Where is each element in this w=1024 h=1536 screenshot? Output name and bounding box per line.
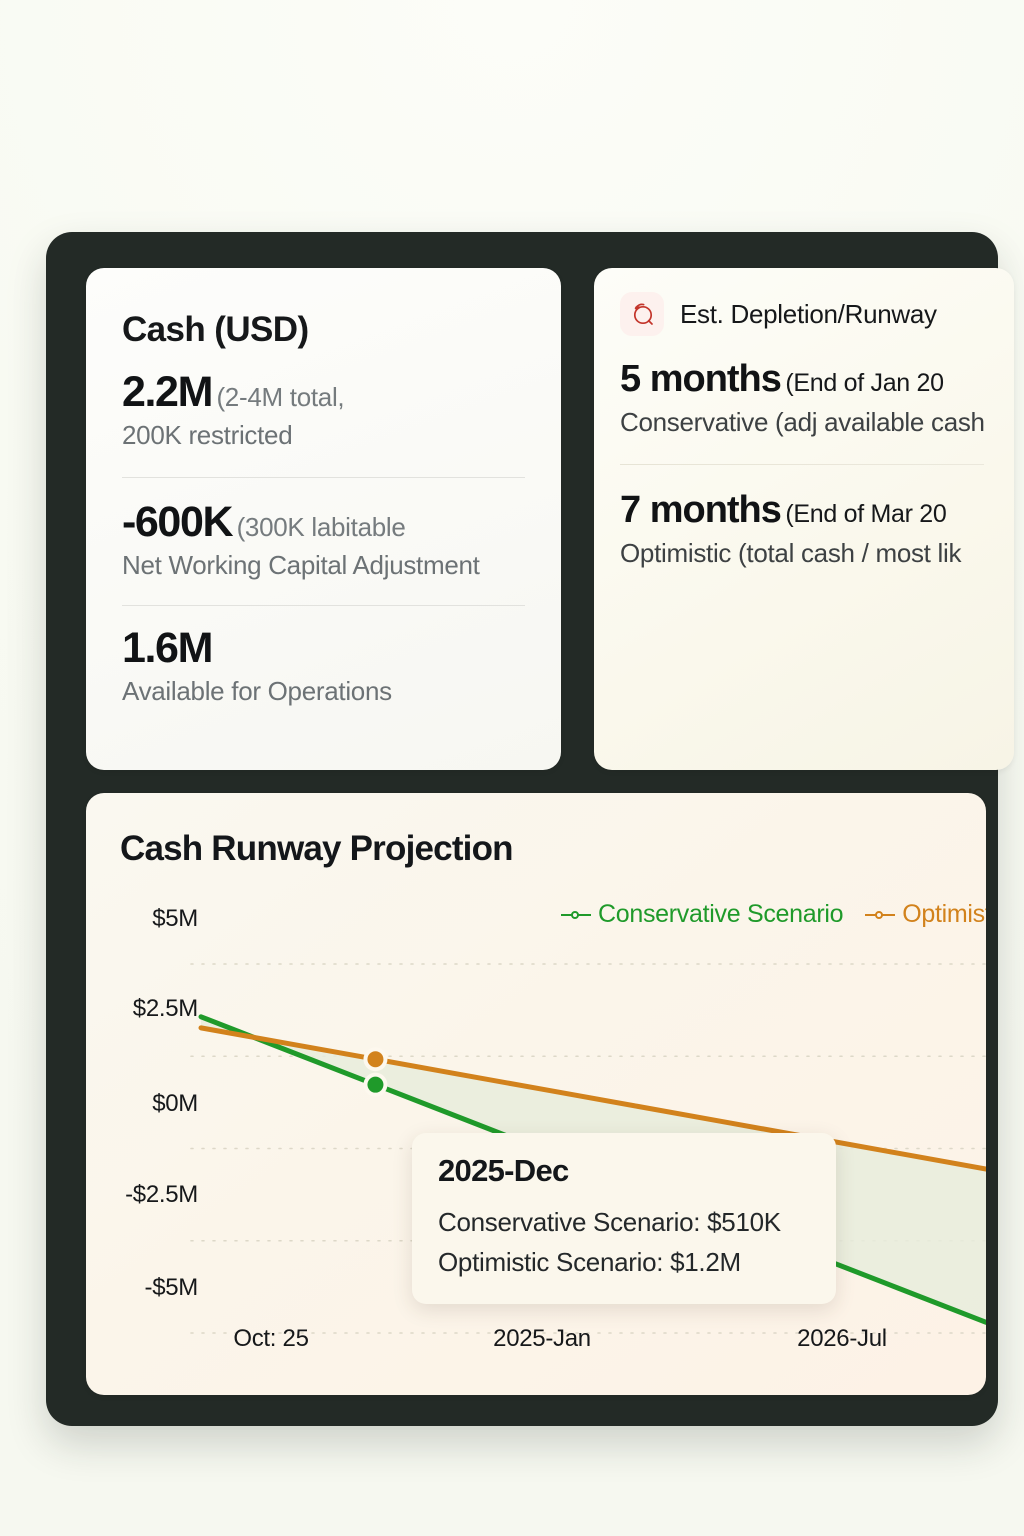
cash-metric-sub: Net Working Capital Adjustment xyxy=(122,546,525,585)
cash-metric-paren: (300K labitable xyxy=(237,512,406,542)
history-clock-icon xyxy=(620,292,664,336)
cash-metric-paren: (2-4M total, xyxy=(216,382,344,412)
cash-metric-sub: Available for Operations xyxy=(122,672,525,711)
tooltip-row-optimistic: Optimistic Scenario: $1.2M xyxy=(438,1243,810,1283)
tooltip-title: 2025-Dec xyxy=(438,1153,810,1189)
cash-metric-row-2: 1.6M Available for Operations xyxy=(122,624,525,711)
cash-metric-value: -600K xyxy=(122,498,232,546)
cash-metric-row-1: -600K (300K labitable Net Working Capita… xyxy=(122,498,525,585)
cash-usd-card: Cash (USD) 2.2M (2-4M total, 200K restri… xyxy=(86,268,561,770)
depletion-runway-card: Est. Depletion/Runway 5 months (End of J… xyxy=(594,268,1014,770)
chart-y-tick-label: $2.5M xyxy=(86,995,198,1023)
runway-card-title: Est. Depletion/Runway xyxy=(680,299,937,330)
runway-note: Conservative (adj available cash xyxy=(620,407,984,438)
chart-x-tick-label: 2025-Jan xyxy=(452,1325,632,1353)
cash-runway-projection-card: Cash Runway Projection Conservative Scen… xyxy=(86,793,986,1395)
tooltip-row-conservative: Conservative Scenario: $510K xyxy=(438,1203,810,1243)
runway-date-paren: (End of Mar 20 xyxy=(785,500,946,528)
legend-label: Conservative Scenario xyxy=(598,900,843,929)
runway-row-0: 5 months (End of Jan 20 Conservative (ad… xyxy=(620,358,984,438)
runway-card-divider xyxy=(620,464,984,465)
cash-metric-value: 1.6M xyxy=(122,624,212,672)
chart-y-tick-label: -$5M xyxy=(86,1274,198,1302)
chart-x-tick-label: 2026-Jul xyxy=(752,1325,932,1353)
chart-tooltip: 2025-Dec Conservative Scenario: $510K Op… xyxy=(412,1133,836,1304)
cash-metric-sub: 200K restricted xyxy=(122,416,525,455)
cash-metric-value: 2.2M xyxy=(122,368,212,416)
runway-note: Optimistic (total cash / most lik xyxy=(620,538,984,569)
cash-card-divider-1 xyxy=(122,477,525,478)
cash-metric-row-0: 2.2M (2-4M total, 200K restricted xyxy=(122,368,525,455)
runway-card-header: Est. Depletion/Runway xyxy=(620,292,984,336)
chart-y-tick-label: $0M xyxy=(86,1090,198,1118)
chart-legend: Conservative Scenario Optimist xyxy=(561,900,986,929)
legend-item-optimistic[interactable]: Optimist xyxy=(865,900,986,929)
runway-date-paren: (End of Jan 20 xyxy=(785,369,943,397)
cash-runway-line-chart[interactable] xyxy=(86,793,986,1395)
cash-card-divider-2 xyxy=(122,605,525,606)
chart-point-conservative[interactable] xyxy=(367,1077,383,1093)
legend-marker-icon xyxy=(561,909,591,921)
chart-y-tick-label: -$2.5M xyxy=(86,1181,198,1209)
legend-label: Optimist xyxy=(902,900,986,929)
legend-item-conservative[interactable]: Conservative Scenario xyxy=(561,900,843,929)
runway-duration: 5 months xyxy=(620,358,781,400)
legend-marker-icon xyxy=(865,909,895,921)
chart-point-optimistic[interactable] xyxy=(367,1051,383,1067)
cash-card-title: Cash (USD) xyxy=(122,310,525,350)
chart-y-tick-label: $5M xyxy=(86,905,198,933)
runway-row-1: 7 months (End of Mar 20 Optimistic (tota… xyxy=(620,489,984,569)
chart-x-tick-label: Oct: 25 xyxy=(181,1325,361,1353)
runway-duration: 7 months xyxy=(620,489,781,531)
